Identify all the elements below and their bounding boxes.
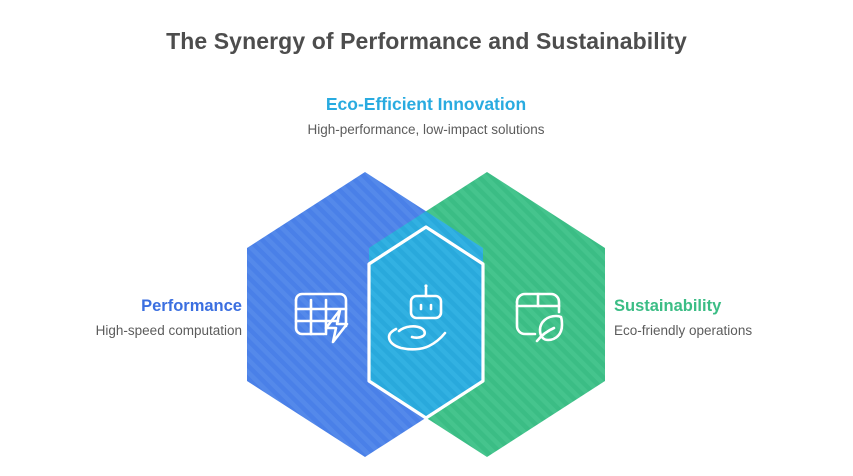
callout-performance: Performance High-speed computation bbox=[20, 296, 242, 339]
callout-title-performance: Performance bbox=[20, 296, 242, 317]
infographic-canvas: The Synergy of Performance and Sustainab… bbox=[0, 0, 853, 476]
callout-description-eco-efficient-innovation: High-performance, low-impact solutions bbox=[276, 121, 576, 139]
callout-title-sustainability: Sustainability bbox=[614, 296, 844, 317]
venn-diagram bbox=[0, 0, 853, 476]
callout-description-sustainability: Eco-friendly operations bbox=[614, 322, 844, 340]
callout-sustainability: Sustainability Eco-friendly operations bbox=[614, 296, 844, 339]
callout-title-eco-efficient-innovation: Eco-Efficient Innovation bbox=[276, 94, 576, 116]
callout-description-performance: High-speed computation bbox=[20, 322, 242, 340]
callout-eco-efficient-innovation: Eco-Efficient Innovation High-performanc… bbox=[276, 94, 576, 139]
